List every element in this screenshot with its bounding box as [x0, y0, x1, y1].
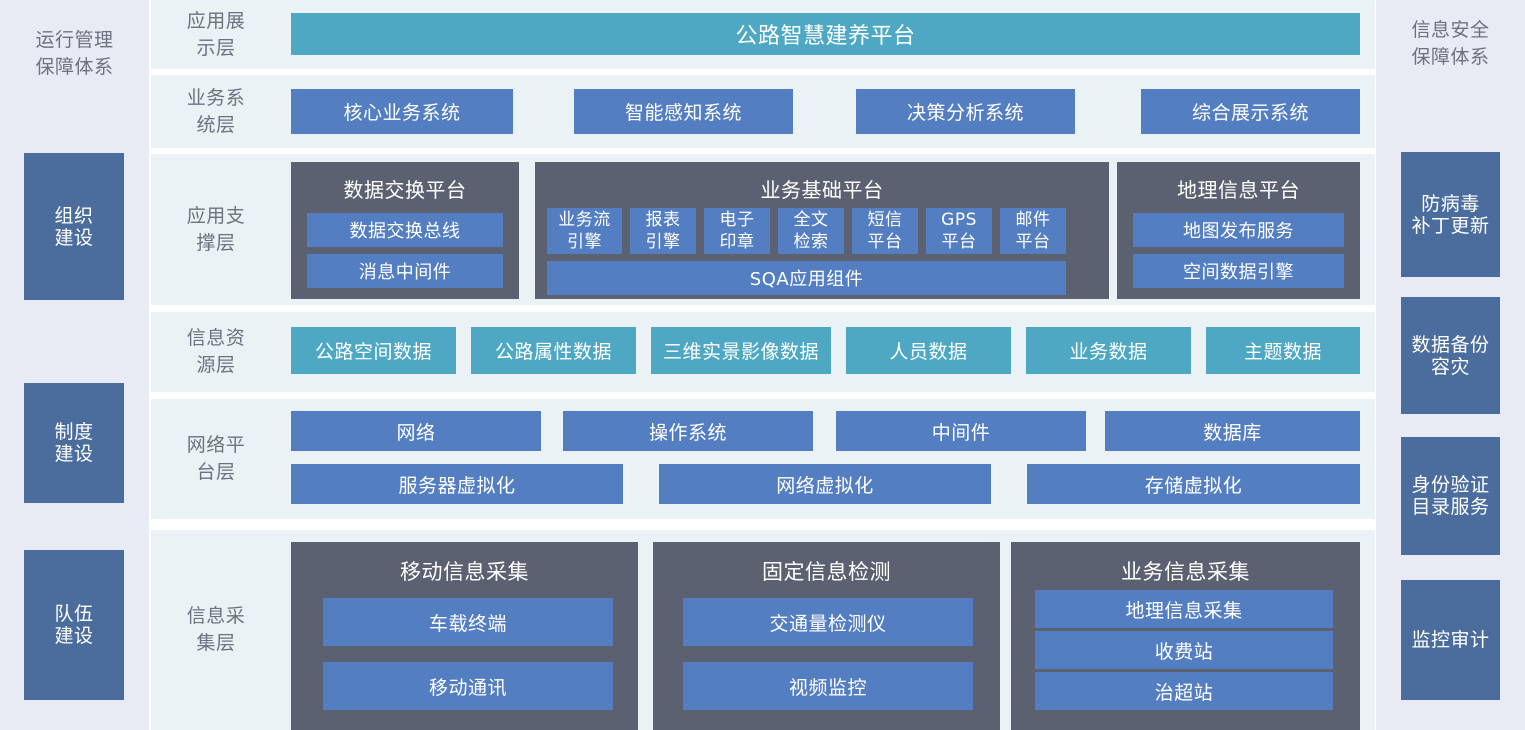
component-mail-platform[interactable]: 邮件 平台: [1000, 208, 1066, 254]
business-system-decision-analysis[interactable]: 决策分析系统: [856, 89, 1075, 134]
layer-label-application-support-line-1: 应用支: [187, 203, 246, 230]
right-rail-box-backup[interactable]: 数据备份 容灾: [1401, 297, 1500, 414]
right-rail-title-line-2: 保障体系: [1376, 44, 1525, 71]
network-item-operating-system[interactable]: 操作系统: [563, 411, 813, 451]
layer-body-presentation: 公路智慧建养平台: [291, 0, 1355, 69]
component-mail-platform-line-2: 平台: [1016, 231, 1051, 253]
component-sms-platform-line-1: 短信: [868, 209, 903, 231]
component-gps-platform[interactable]: GPS 平台: [926, 208, 992, 254]
layer-body-information-resource: 公路空间数据 公路属性数据 三维实景影像数据 人员数据 业务数据 主题数据: [291, 312, 1355, 392]
panel-title-mobile-information-collection: 移动信息采集: [291, 556, 638, 586]
panel-fixed-information-detection: 固定信息检测 交通量检测仪 视频监控: [653, 542, 1000, 730]
network-item-storage-virtualization[interactable]: 存储虚拟化: [1027, 464, 1360, 504]
component-electronic-seal[interactable]: 电子 印章: [704, 208, 770, 254]
collection-overload-control-station[interactable]: 治超站: [1035, 672, 1333, 710]
panel-geographic-information-platform: 地理信息平台 地图发布服务 空间数据引擎: [1117, 162, 1360, 299]
layer-row-information-collection: 信息采 集层 移动信息采集 车载终端 移动通讯 固定信息检测 交通量检测仪 视频…: [151, 530, 1375, 730]
layer-row-application-support: 应用支 撑层 数据交换平台 数据交换总线 消息中间件 业务基础平台 业务流 引擎…: [151, 154, 1375, 305]
left-rail-box-organization-line-2: 建设: [54, 227, 93, 249]
component-full-text-search-line-2: 检索: [794, 231, 829, 253]
component-report-engine-line-2: 引擎: [646, 231, 681, 253]
component-mail-platform-line-1: 邮件: [1016, 209, 1051, 231]
collection-toll-station[interactable]: 收费站: [1035, 631, 1333, 669]
component-full-text-search-line-1: 全文: [794, 209, 829, 231]
layer-body-information-collection: 移动信息采集 车载终端 移动通讯 固定信息检测 交通量检测仪 视频监控 业务信息…: [291, 530, 1355, 730]
resource-highway-attribute-data[interactable]: 公路属性数据: [471, 327, 636, 374]
right-rail-box-backup-line-2: 容灾: [1411, 356, 1489, 378]
resource-personnel-data[interactable]: 人员数据: [846, 327, 1011, 374]
component-workflow-engine[interactable]: 业务流 引擎: [547, 208, 622, 254]
collection-vehicle-terminal[interactable]: 车载终端: [323, 598, 613, 646]
layer-row-presentation: 应用展 示层 公路智慧建养平台: [151, 0, 1375, 69]
network-item-database[interactable]: 数据库: [1105, 411, 1360, 451]
platform-banner-highway-smart-maintenance[interactable]: 公路智慧建养平台: [291, 13, 1360, 55]
left-rail-title-line-1: 运行管理: [0, 27, 149, 54]
map-publishing-service[interactable]: 地图发布服务: [1133, 213, 1344, 247]
data-exchange-bus[interactable]: 数据交换总线: [307, 213, 503, 247]
left-rail-box-team-line-2: 建设: [54, 625, 93, 647]
layer-label-application-support-line-2: 撑层: [187, 230, 246, 257]
panel-title-geographic-information-platform: 地理信息平台: [1117, 174, 1360, 203]
component-electronic-seal-line-2: 印章: [720, 231, 755, 253]
architecture-diagram: 运行管理 保障体系 组织 建设 制度 建设 队伍 建设 信息安全 保障体系: [0, 0, 1525, 730]
layer-label-information-collection-line-2: 集层: [187, 630, 246, 657]
left-rail-box-organization-line-1: 组织: [54, 205, 93, 227]
right-rail-information-security: 信息安全 保障体系 防病毒 补丁更新 数据备份 容灾 身份验证 目录服务 监控审…: [1376, 0, 1525, 730]
layer-label-business-system-line-1: 业务系: [187, 85, 246, 112]
component-report-engine-line-1: 报表: [646, 209, 681, 231]
panel-business-information-collection: 业务信息采集 地理信息采集 收费站 治超站: [1011, 542, 1360, 730]
business-system-intelligent-sensing[interactable]: 智能感知系统: [574, 89, 793, 134]
layer-label-presentation-line-2: 示层: [187, 35, 246, 62]
component-workflow-engine-line-1: 业务流: [558, 209, 611, 231]
layer-label-presentation: 应用展 示层: [151, 0, 281, 69]
panel-mobile-information-collection: 移动信息采集 车载终端 移动通讯: [291, 542, 638, 730]
right-rail-box-antivirus[interactable]: 防病毒 补丁更新: [1401, 152, 1500, 277]
component-sms-platform[interactable]: 短信 平台: [852, 208, 918, 254]
layer-label-information-resource: 信息资 源层: [151, 312, 281, 392]
left-rail-title: 运行管理 保障体系: [0, 27, 149, 81]
right-rail-box-backup-line-1: 数据备份: [1411, 334, 1489, 356]
layer-label-information-collection: 信息采 集层: [151, 530, 281, 730]
layer-body-network-platform: 网络 操作系统 中间件 数据库 服务器虚拟化 网络虚拟化 存储虚拟化: [291, 399, 1355, 519]
resource-highway-spatial-data[interactable]: 公路空间数据: [291, 327, 456, 374]
panel-title-business-information-collection: 业务信息采集: [1011, 556, 1360, 586]
component-sms-platform-line-2: 平台: [868, 231, 903, 253]
panel-title-data-exchange-platform: 数据交换平台: [291, 174, 519, 203]
message-middleware[interactable]: 消息中间件: [307, 254, 503, 288]
component-workflow-engine-line-2: 引擎: [567, 231, 602, 253]
layer-label-information-resource-line-2: 源层: [187, 352, 246, 379]
left-rail-box-system-line-1: 制度: [54, 421, 93, 443]
layer-label-information-collection-line-1: 信息采: [187, 603, 246, 630]
panel-data-exchange-platform: 数据交换平台 数据交换总线 消息中间件: [291, 162, 519, 299]
left-rail-box-organization[interactable]: 组织 建设: [24, 153, 124, 300]
collection-mobile-communication[interactable]: 移动通讯: [323, 662, 613, 710]
resource-thematic-data[interactable]: 主题数据: [1206, 327, 1360, 374]
right-rail-title: 信息安全 保障体系: [1376, 17, 1525, 71]
network-item-server-virtualization[interactable]: 服务器虚拟化: [291, 464, 623, 504]
right-rail-box-antivirus-line-2: 补丁更新: [1411, 215, 1489, 237]
layer-row-business-system: 业务系 统层 核心业务系统 智能感知系统 决策分析系统 综合展示系统: [151, 75, 1375, 148]
layer-label-presentation-line-1: 应用展: [187, 8, 246, 35]
left-rail-title-line-2: 保障体系: [0, 54, 149, 81]
layer-label-network-platform-line-1: 网络平: [187, 432, 246, 459]
component-electronic-seal-line-1: 电子: [720, 209, 755, 231]
left-rail-box-system-line-2: 建设: [54, 443, 93, 465]
network-item-middleware[interactable]: 中间件: [836, 411, 1086, 451]
component-full-text-search[interactable]: 全文 检索: [778, 208, 844, 254]
panel-title-fixed-information-detection: 固定信息检测: [653, 556, 1000, 586]
right-rail-title-line-1: 信息安全: [1376, 17, 1525, 44]
spatial-data-engine[interactable]: 空间数据引擎: [1133, 254, 1344, 288]
left-rail-box-system[interactable]: 制度 建设: [24, 383, 124, 503]
layer-label-business-system-line-2: 统层: [187, 112, 246, 139]
component-gps-platform-line-1: GPS: [941, 209, 977, 231]
component-sqa-application[interactable]: SQA应用组件: [547, 261, 1066, 295]
business-system-core[interactable]: 核心业务系统: [291, 89, 513, 134]
layer-body-business-system: 核心业务系统 智能感知系统 决策分析系统 综合展示系统: [291, 75, 1355, 148]
layer-label-information-resource-line-1: 信息资: [187, 325, 246, 352]
left-rail-box-team[interactable]: 队伍 建设: [24, 550, 124, 700]
right-rail-box-identity-line-1: 身份验证: [1411, 474, 1489, 496]
component-report-engine[interactable]: 报表 引擎: [630, 208, 696, 254]
component-gps-platform-line-2: 平台: [942, 231, 977, 253]
right-rail-box-identity[interactable]: 身份验证 目录服务: [1401, 437, 1500, 555]
right-rail-box-audit[interactable]: 监控审计: [1401, 580, 1500, 700]
collection-video-surveillance[interactable]: 视频监控: [683, 662, 973, 710]
layer-label-business-system: 业务系 统层: [151, 75, 281, 148]
left-rail-operation-management: 运行管理 保障体系 组织 建设 制度 建设 队伍 建设: [0, 0, 149, 730]
layer-label-application-support: 应用支 撑层: [151, 154, 281, 305]
layer-row-network-platform: 网络平 台层 网络 操作系统 中间件 数据库 服务器虚拟化 网络虚拟化 存储虚拟…: [151, 399, 1375, 519]
panel-title-business-base-platform: 业务基础平台: [535, 174, 1109, 203]
collection-traffic-volume-detector[interactable]: 交通量检测仪: [683, 598, 973, 646]
right-rail-box-antivirus-line-1: 防病毒: [1411, 193, 1489, 215]
left-rail-box-team-line-1: 队伍: [54, 603, 93, 625]
panel-business-base-platform: 业务基础平台 业务流 引擎 报表 引擎 电子 印章 全文 检索: [535, 162, 1109, 299]
network-item-network-virtualization[interactable]: 网络虚拟化: [659, 464, 991, 504]
right-rail-box-identity-line-2: 目录服务: [1411, 496, 1489, 518]
resource-3d-real-scene-imagery-data[interactable]: 三维实景影像数据: [651, 327, 831, 374]
right-rail-box-audit-line-1: 监控审计: [1411, 627, 1489, 653]
layer-label-network-platform: 网络平 台层: [151, 399, 281, 519]
layer-body-application-support: 数据交换平台 数据交换总线 消息中间件 业务基础平台 业务流 引擎 报表 引擎 …: [291, 154, 1355, 305]
collection-geographic-information[interactable]: 地理信息采集: [1035, 590, 1333, 628]
network-item-network[interactable]: 网络: [291, 411, 541, 451]
resource-business-data[interactable]: 业务数据: [1026, 327, 1191, 374]
layer-row-information-resource: 信息资 源层 公路空间数据 公路属性数据 三维实景影像数据 人员数据 业务数据 …: [151, 312, 1375, 392]
layer-label-network-platform-line-2: 台层: [187, 459, 246, 486]
business-system-comprehensive-display[interactable]: 综合展示系统: [1141, 89, 1360, 134]
